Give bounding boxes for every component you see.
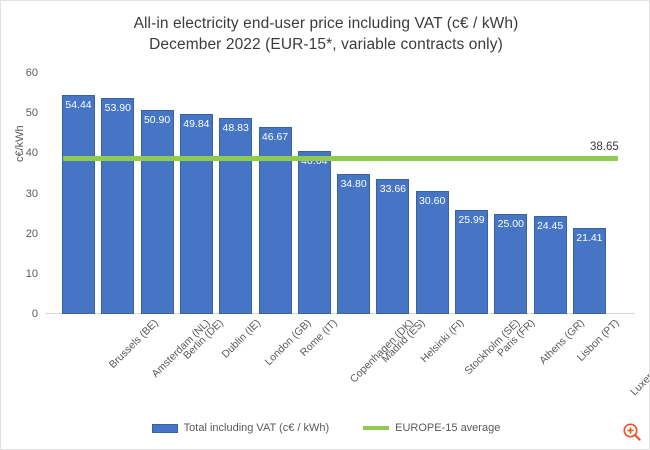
bar[interactable]: 40.64 xyxy=(298,151,331,314)
y-axis-tick-label: 40 xyxy=(26,147,38,159)
bar-value-label: 48.83 xyxy=(220,122,251,134)
legend-item-europe-15-average[interactable]: EUROPE-15 average xyxy=(363,422,500,434)
chart-title-line-1: All-in electricity end-user price includ… xyxy=(134,15,519,32)
bar[interactable]: 50.90 xyxy=(141,110,174,314)
bar-value-label: 25.99 xyxy=(456,214,487,226)
bar[interactable]: 53.90 xyxy=(101,98,134,314)
bar-value-label: 34.80 xyxy=(338,178,369,190)
bar[interactable]: 46.67 xyxy=(259,127,292,314)
bar[interactable]: 33.66 xyxy=(376,179,409,314)
average-line xyxy=(63,156,618,161)
y-axis-tick-label: 0 xyxy=(32,308,38,320)
legend-bar-swatch-icon xyxy=(152,424,178,433)
average-line-value-label: 38.65 xyxy=(590,141,619,153)
bar[interactable]: 24.45 xyxy=(534,216,567,314)
legend-item-total-including-vat[interactable]: Total including VAT (c€ / kWh) xyxy=(152,422,330,434)
bar-value-label: 46.67 xyxy=(260,131,291,143)
bar[interactable]: 25.00 xyxy=(494,214,527,314)
bar-value-label: 50.90 xyxy=(142,114,173,126)
y-axis-title: c€/kWh xyxy=(14,125,26,162)
chart-title-line-2: December 2022 (EUR-15*, variable contrac… xyxy=(1,34,650,55)
bar-value-label: 21.41 xyxy=(574,232,605,244)
x-axis-category-label: Copenhagen (DK) xyxy=(348,317,416,385)
plot-area: 6050403020100 54.4453.9050.9049.8448.834… xyxy=(45,73,635,314)
bar-value-label: 53.90 xyxy=(102,102,133,114)
x-axis-category-label: Brussels (BE) xyxy=(106,317,160,371)
y-axis-tick-label: 10 xyxy=(26,268,38,280)
bar-value-label: 33.66 xyxy=(377,183,408,195)
legend-item-label: EUROPE-15 average xyxy=(395,422,500,434)
zoom-in-icon[interactable] xyxy=(621,421,643,443)
zoom-in-glyph xyxy=(622,422,642,442)
x-axis-category-label: Dublin (IE) xyxy=(220,317,264,361)
bar-value-label: 24.45 xyxy=(535,220,566,232)
y-axis-tick-label: 30 xyxy=(26,188,38,200)
x-axis-category-label: Luxembourg City (LU) xyxy=(628,317,650,398)
chart-legend: Total including VAT (c€ / kWh) EUROPE-15… xyxy=(1,422,650,434)
chart-title: All-in electricity end-user price includ… xyxy=(1,13,650,55)
legend-line-swatch-icon xyxy=(363,426,389,430)
bar[interactable]: 49.84 xyxy=(180,114,213,314)
legend-item-label: Total including VAT (c€ / kWh) xyxy=(184,422,330,434)
bar-value-label: 25.00 xyxy=(495,218,526,230)
bar-value-label: 30.60 xyxy=(417,195,448,207)
bar-value-label: 54.44 xyxy=(63,99,94,111)
bar[interactable]: 54.44 xyxy=(62,95,95,314)
bar[interactable]: 48.83 xyxy=(219,118,252,314)
bar-value-label: 49.84 xyxy=(181,118,212,130)
bar[interactable]: 34.80 xyxy=(337,174,370,314)
y-axis-tick-label: 50 xyxy=(26,107,38,119)
bar[interactable]: 25.99 xyxy=(455,210,488,314)
x-axis-labels: Brussels (BE)Amsterdam (NL)Berlin (DE)Du… xyxy=(45,317,635,417)
bar[interactable]: 30.60 xyxy=(416,191,449,314)
bar[interactable]: 21.41 xyxy=(573,228,606,314)
y-axis-tick-label: 60 xyxy=(26,67,38,79)
chart-screenshot: All-in electricity end-user price includ… xyxy=(0,0,650,450)
y-axis-tick-label: 20 xyxy=(26,228,38,240)
